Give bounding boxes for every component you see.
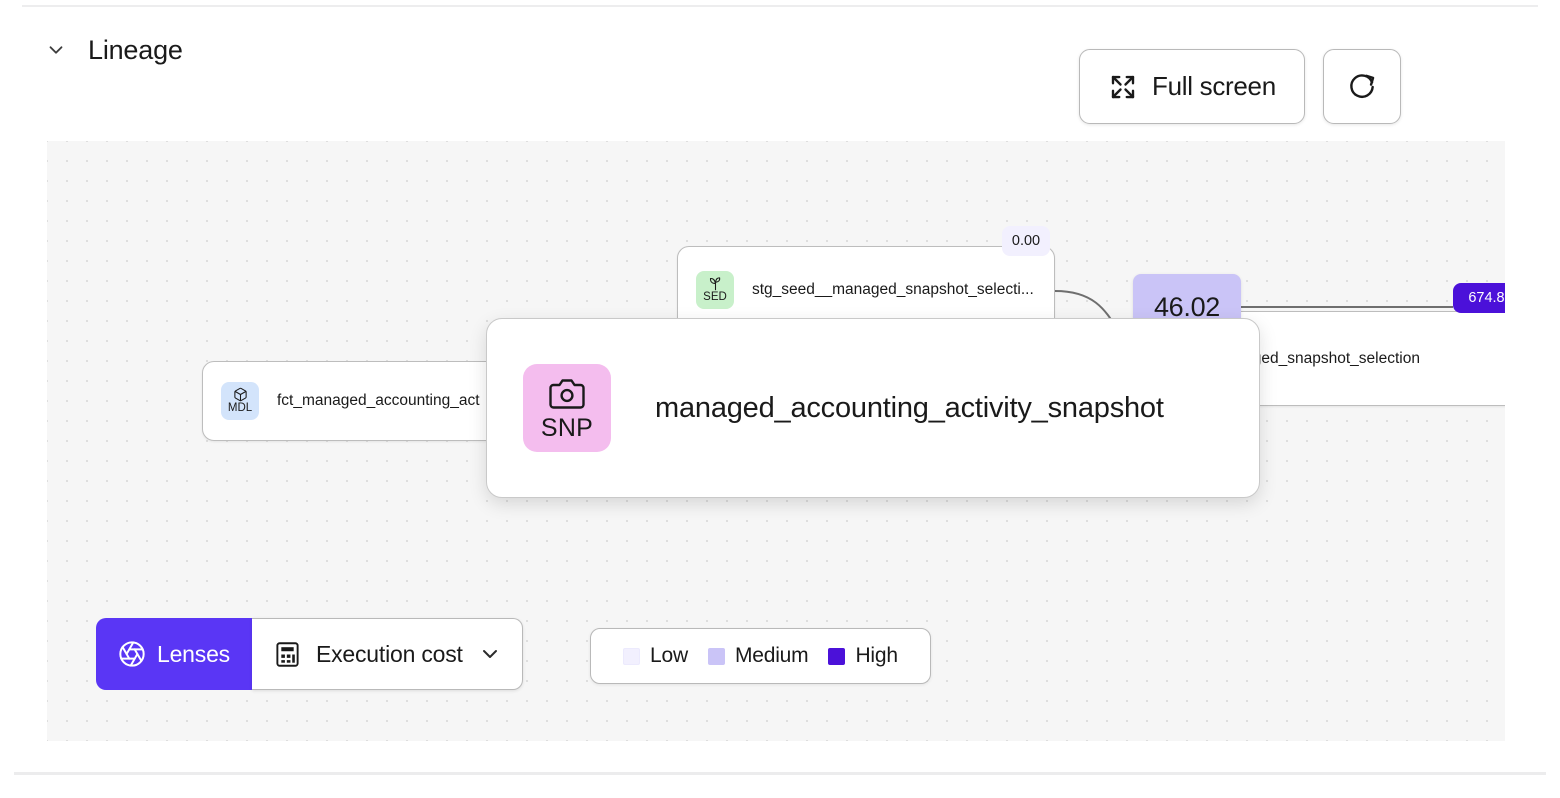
node-type-badge-sed: SED — [696, 271, 734, 309]
lenses-button[interactable]: Lenses — [96, 618, 252, 690]
chevron-down-icon — [45, 39, 67, 61]
legend-swatch-medium — [708, 648, 725, 665]
legend-label-high: High — [855, 644, 897, 668]
calculator-icon — [274, 641, 301, 668]
lenses-control-group: Lenses Execution cost — [96, 618, 523, 690]
refresh-icon — [1346, 71, 1378, 103]
cube-icon — [233, 387, 248, 402]
cost-legend: Low Medium High — [590, 628, 931, 684]
bottom-divider — [14, 772, 1546, 775]
hover-card-title: managed_accounting_activity_snapshot — [655, 392, 1164, 425]
cost-badge-low[interactable]: 0.00 — [1002, 226, 1050, 256]
node-name-label: stg_seed__managed_snapshot_selecti... — [752, 281, 1034, 299]
full-screen-button[interactable]: Full screen — [1079, 49, 1305, 124]
seedling-icon — [708, 276, 723, 291]
section-header: Lineage — [40, 34, 183, 66]
camera-icon — [549, 376, 585, 412]
chevron-down-icon — [478, 642, 502, 666]
expand-arrows-icon — [1108, 72, 1138, 102]
page-title: Lineage — [88, 37, 183, 64]
node-hover-card: SNP managed_accounting_activity_snapshot — [486, 318, 1260, 498]
node-type-badge-mdl: MDL — [221, 382, 259, 420]
lineage-collapse-toggle[interactable] — [40, 34, 72, 66]
aperture-icon — [118, 640, 146, 668]
node-name-label: fct_managed_accounting_act — [277, 392, 480, 410]
node-type-badge-snp: SNP — [523, 364, 611, 452]
canvas-toolbar: Full screen — [1079, 49, 1401, 124]
legend-label-low: Low — [650, 644, 688, 668]
lineage-panel: Lineage SED st — [0, 0, 1560, 798]
lens-metric-value: Execution cost — [316, 641, 463, 668]
full-screen-label: Full screen — [1152, 71, 1276, 102]
node-type-label: SED — [703, 292, 727, 304]
legend-label-medium: Medium — [735, 644, 809, 668]
refresh-button[interactable] — [1323, 49, 1401, 124]
top-divider — [22, 5, 1538, 7]
node-type-label: SNP — [541, 416, 593, 441]
legend-item-high: High — [828, 644, 897, 668]
legend-swatch-high — [828, 648, 845, 665]
lens-metric-select[interactable]: Execution cost — [252, 618, 523, 690]
legend-swatch-low — [623, 648, 640, 665]
legend-item-low: Low — [623, 644, 688, 668]
cost-badge-high[interactable]: 674.87 — [1453, 283, 1505, 313]
node-type-label: MDL — [228, 403, 252, 415]
legend-item-medium: Medium — [708, 644, 809, 668]
lenses-label: Lenses — [157, 641, 230, 668]
